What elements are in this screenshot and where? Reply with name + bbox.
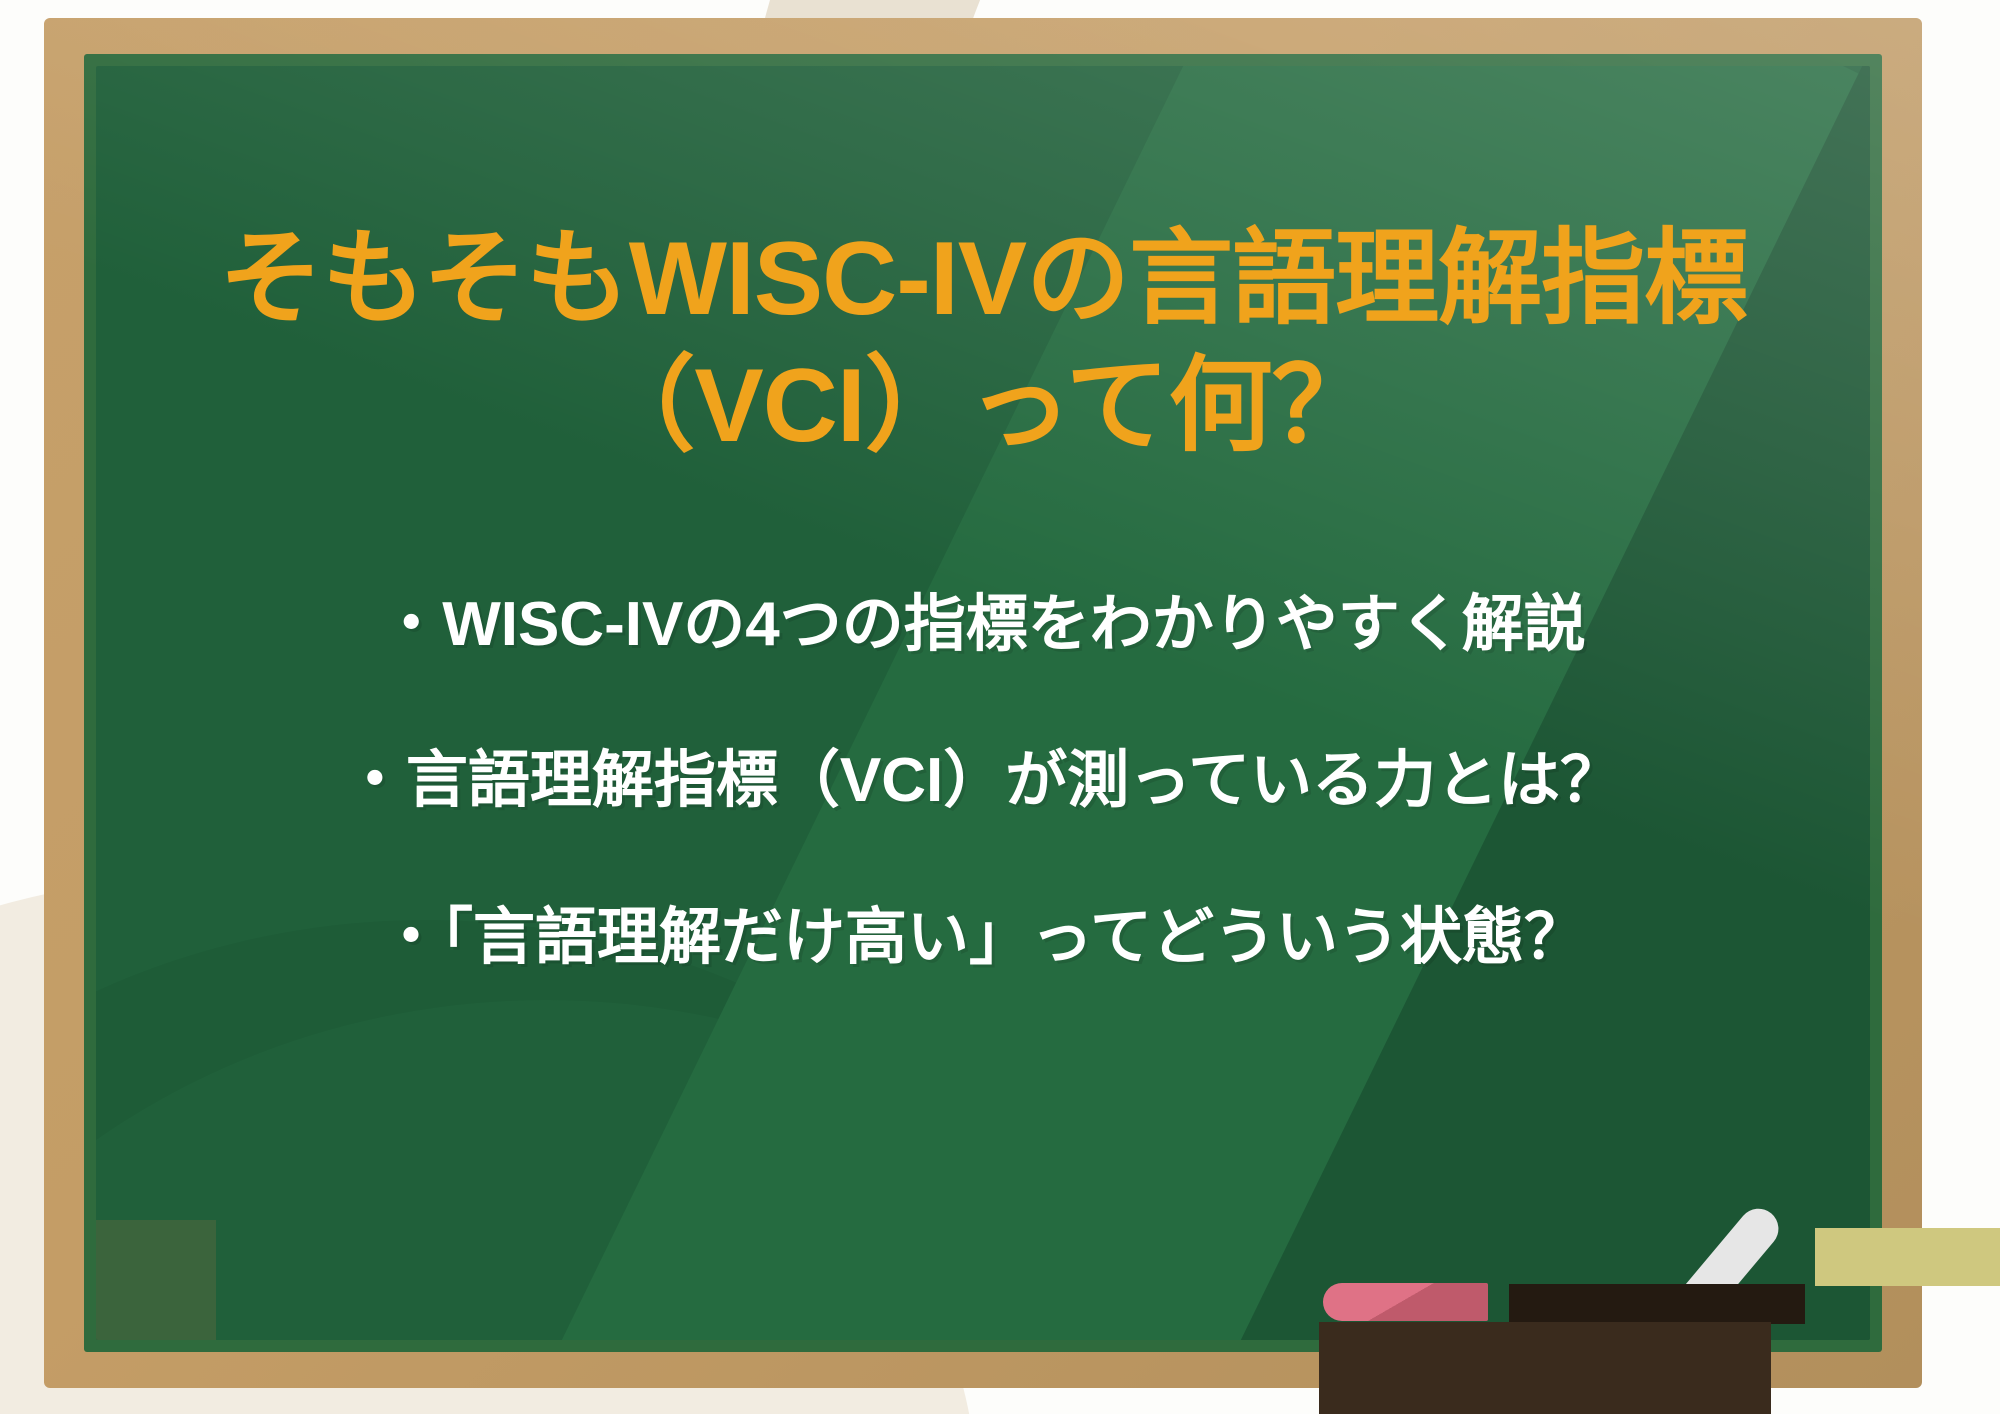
- list-item: ・WISC-IVの4つの指標をわかりやすく解説: [380, 588, 1586, 662]
- chalk-tray-icon: [1319, 1322, 1771, 1414]
- chalk-tray-shadow: [1509, 1284, 1805, 1324]
- page-title-line-2: （VCI）って何？: [219, 343, 1747, 470]
- chalk-tray-group: [1285, 1170, 1805, 1414]
- board-content: そもそもWISC-IVの言語理解指標 （VCI）って何？ ・WISC-IVの4つ…: [96, 66, 1870, 1340]
- blackboard-eraser-icon: [1815, 1228, 2000, 1286]
- slide-canvas: そもそもWISC-IVの言語理解指標 （VCI）って何？ ・WISC-IVの4つ…: [0, 0, 2000, 1414]
- page-title-line-1: そもそもWISC-IVの言語理解指標: [219, 216, 1747, 343]
- list-item: ・「言語理解だけ高い」ってどういう状態？: [380, 901, 1586, 975]
- bullet-list: ・WISC-IVの4つの指標をわかりやすく解説 ・言語理解指標（VCI）が測って…: [96, 588, 1870, 975]
- page-title: そもそもWISC-IVの言語理解指標 （VCI）って何？: [219, 216, 1747, 470]
- list-item: ・言語理解指標（VCI）が測っている力とは？: [344, 744, 1622, 818]
- chalkboard-surface: そもそもWISC-IVの言語理解指標 （VCI）って何？ ・WISC-IVの4つ…: [96, 66, 1870, 1340]
- pink-chalk-icon: [1323, 1283, 1488, 1321]
